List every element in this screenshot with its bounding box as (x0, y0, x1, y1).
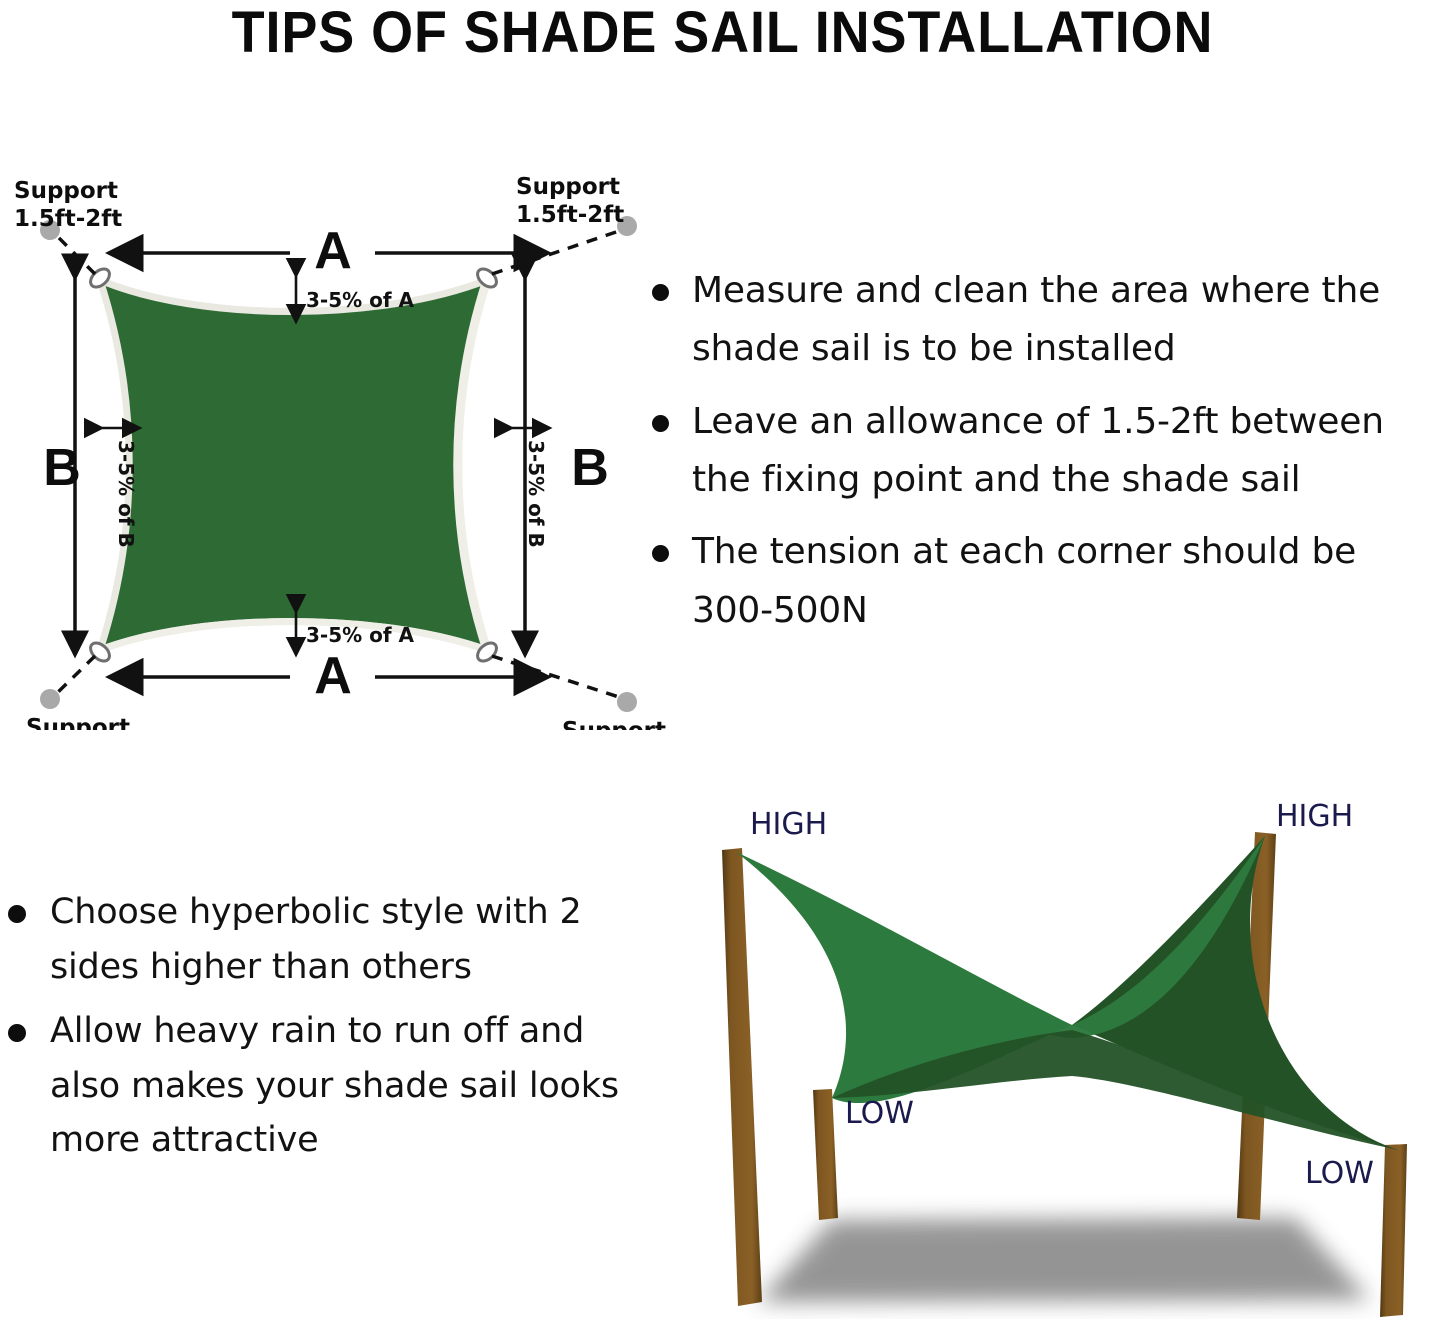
hyperbolic-tips-panel: Choose hyperbolic style with 2 sides hig… (0, 885, 625, 1215)
dimension-label-a-top: A (314, 222, 352, 280)
list-item: The tension at each corner should be 300… (640, 523, 1445, 640)
dimension-label-b-right: B (571, 439, 609, 497)
corner-label-high-left: HIGH (750, 807, 827, 842)
dimension-label-a-bottom: A (314, 647, 352, 705)
corner-label-high-right: HIGH (1276, 799, 1353, 834)
tether-line (55, 656, 95, 695)
support-label-top-left-line1: Support (14, 178, 118, 204)
hyperbolic-tips-list: Choose hyperbolic style with 2 sides hig… (0, 885, 625, 1168)
list-item: Leave an allowance of 1.5-2ft between th… (640, 393, 1445, 510)
hyperbolic-sail-svg: HIGH HIGH LOW LOW (680, 790, 1445, 1319)
post-low-left (813, 1089, 838, 1220)
curvature-label-top: 3-5% of A (306, 288, 415, 312)
page-title: TIPS OF SHADE SAIL INSTALLATION (51, 0, 1395, 64)
ground-shadow (758, 1218, 1370, 1302)
support-label-top-right-line2: 1.5ft-2ft (516, 202, 624, 228)
list-item: Measure and clean the area where the sha… (640, 262, 1445, 379)
tether-line (55, 234, 95, 274)
corner-label-low-left: LOW (845, 1096, 914, 1131)
support-dot-icon (40, 689, 60, 709)
list-item: Allow heavy rain to run off and also mak… (0, 1004, 625, 1168)
support-label-top-right-line1: Support (516, 174, 620, 200)
hyperbolic-sail-panel: HIGH HIGH LOW LOW (680, 790, 1445, 1319)
post-low-right (1380, 1144, 1407, 1317)
curvature-label-bottom: 3-5% of A (306, 623, 415, 647)
dimension-label-b-left: B (43, 439, 81, 497)
curvature-label-left: 3-5% of B (114, 440, 138, 548)
post-high-left (722, 848, 762, 1306)
corner-label-low-right: LOW (1305, 1156, 1374, 1191)
support-dot-icon (617, 692, 637, 712)
rect-sail-diagram-panel: A 3-5% of A A 3-5% of A B 3-5% of B B 3-… (0, 150, 680, 730)
support-label-top-left-line2: 1.5ft-2ft (14, 206, 122, 232)
support-label-bottom-right-line1: Support (562, 718, 666, 730)
installation-tips-panel: Measure and clean the area where the sha… (640, 262, 1445, 662)
support-label-bottom-left-line1: Support (26, 715, 130, 730)
installation-tips-list: Measure and clean the area where the sha… (640, 262, 1445, 640)
curvature-label-right: 3-5% of B (524, 440, 548, 548)
rect-sail-svg: A 3-5% of A A 3-5% of A B 3-5% of B B 3-… (0, 150, 680, 730)
shade-sail-shape (100, 280, 487, 650)
list-item: Choose hyperbolic style with 2 sides hig… (0, 885, 625, 994)
